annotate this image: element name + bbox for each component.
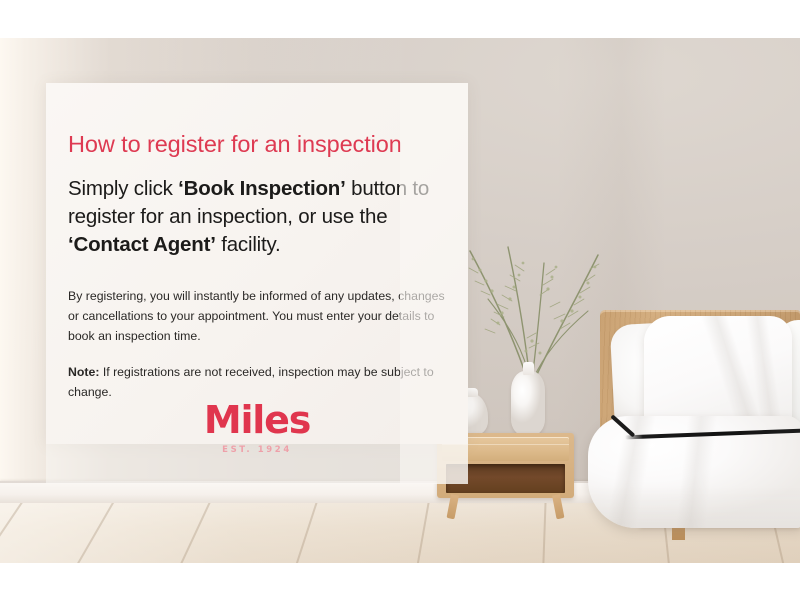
bedroom-photo: How to register for an inspection Simply… [0, 38, 800, 563]
logo-established-text: EST. 1924 [46, 445, 468, 455]
note-label: Note: [68, 365, 99, 379]
white-tall-vase [511, 371, 545, 436]
contact-agent-emphasis: ‘Contact Agent’ [68, 233, 216, 256]
registration-info-paragraph: By registering, you will instantly be in… [68, 287, 452, 347]
note-paragraph: Note: If registrations are not received,… [68, 363, 452, 403]
info-card: How to register for an inspection Simply… [46, 83, 468, 444]
lead-text-after: facility. [216, 233, 281, 256]
screenshot-canvas: How to register for an inspection Simply… [0, 0, 800, 600]
info-card-content: How to register for an inspection Simply… [68, 131, 452, 402]
note-text: If registrations are not received, inspe… [68, 365, 434, 399]
brand-logo: Miles EST. 1924 [46, 401, 468, 455]
lead-paragraph: Simply click ‘Book Inspection’ button to… [68, 175, 452, 259]
nightstand-shelf [446, 464, 565, 493]
book-inspection-emphasis: ‘Book Inspection’ [178, 177, 345, 200]
page-title: How to register for an inspection [68, 131, 452, 157]
lead-text-before: Simply click [68, 177, 178, 200]
logo-wordmark: Miles [46, 401, 468, 439]
